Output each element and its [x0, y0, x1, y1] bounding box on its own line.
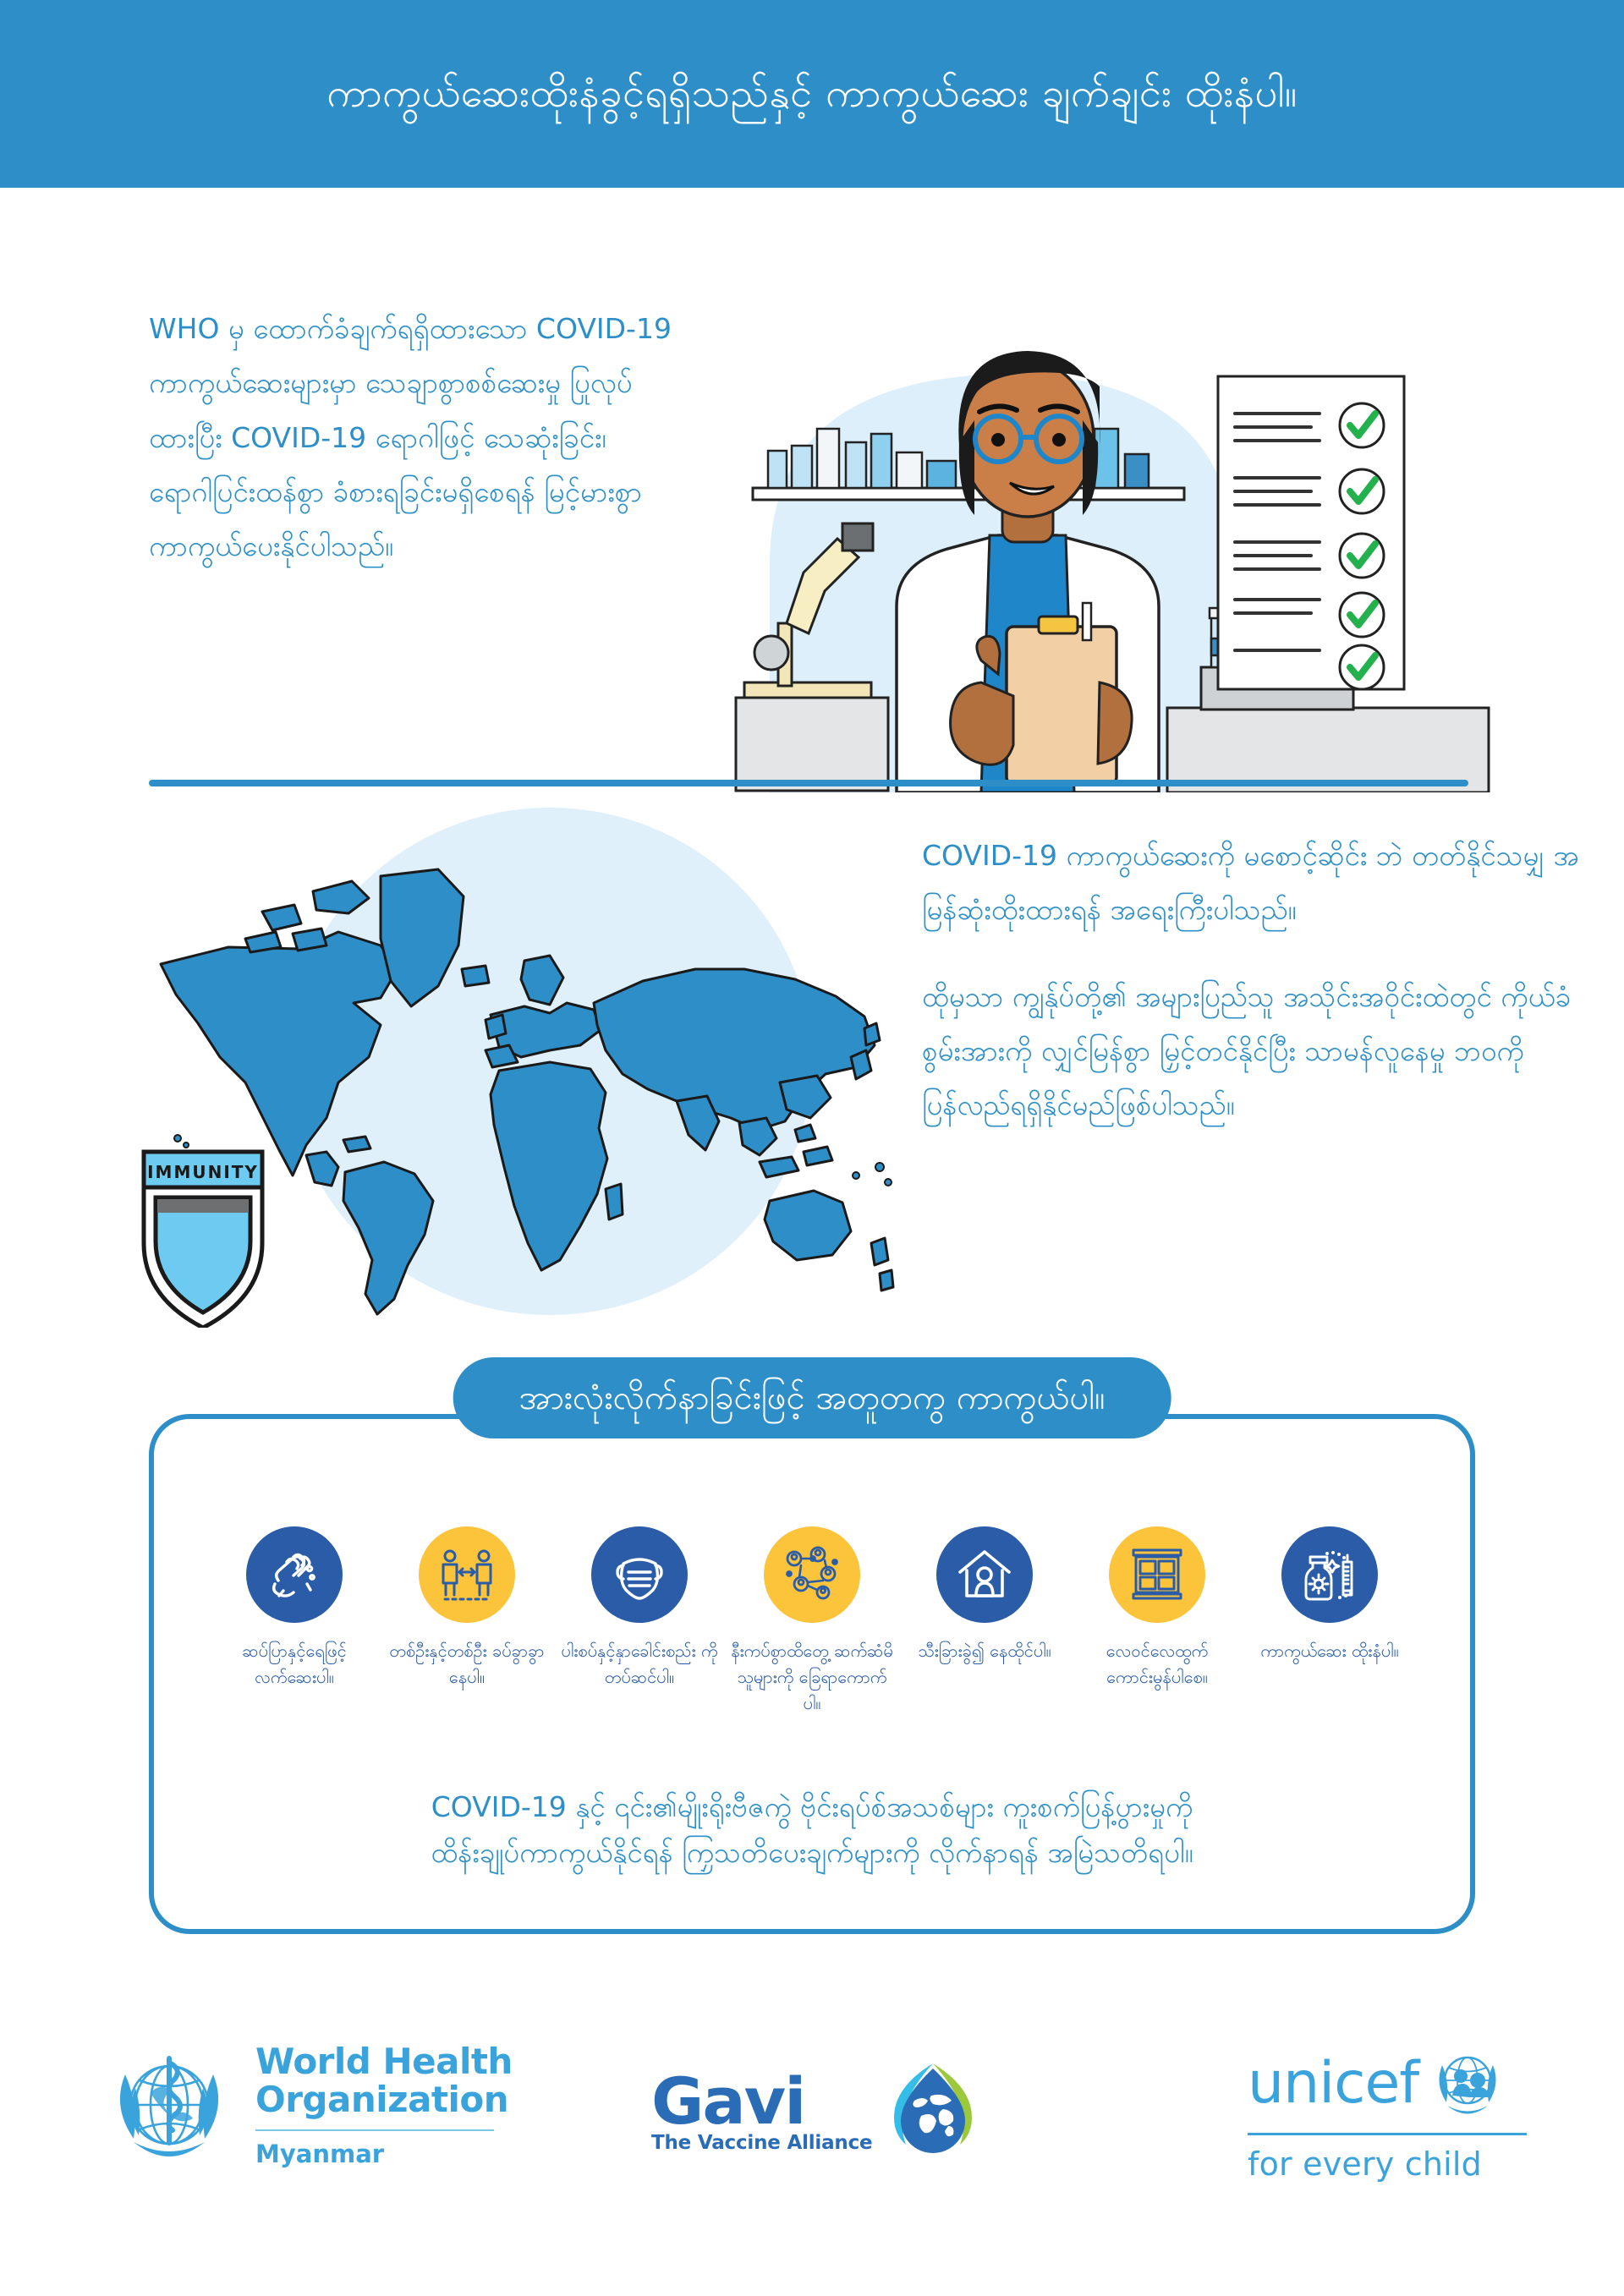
- face-mask-icon: [591, 1526, 688, 1623]
- gavi-wordmark: Gavi: [651, 2071, 872, 2132]
- header-banner: ကာကွယ်ဆေးထိုးနံခွင့်ရရှိသည်နှင့် ကာကွယ်ဆ…: [0, 0, 1624, 188]
- prevention-icon-row: ဆပ်ပြာနှင့်ရေဖြင့် လက်ဆေးပါ။ တစ်ဦးနှင့်တ…: [0, 1526, 1624, 1717]
- gavi-logo: Gavi The Vaccine Alliance: [651, 2057, 989, 2168]
- vaccine-syringe-icon: [1281, 1526, 1378, 1623]
- section2-paragraph-1: COVID-19 ကာကွယ်ဆေးကို မစောင့်ဆိုင်း ဘဲ တ…: [922, 829, 1599, 938]
- prevention-item-contact-tracing[interactable]: နီးကပ်စွာထိတွေ့ ဆက်ဆံမိသူများကို ခြေရာကေ…: [726, 1526, 898, 1717]
- prevention-banner: အားလုံးလိုက်နာခြင်းဖြင့် အတူတကွ ကာကွယ်ပါ…: [453, 1357, 1171, 1438]
- prevention-footer-text: COVID-19 နှင့် ၎င်း၏မျိုးရိုးဗီဇကွဲ ဗိုင…: [149, 1784, 1475, 1877]
- prevention-label: ဆပ်ပြာနှင့်ရေဖြင့် လက်ဆေးပါ။: [208, 1638, 381, 1690]
- immunity-shield-icon: IMMUNITY: [144, 1152, 262, 1328]
- prevention-label: ကာကွယ်ဆေး ထိုးနံပါ။: [1257, 1638, 1402, 1664]
- section-get-vaccinated-early: IMMUNITY COVID-19 ကာကွယ်ဆေးကို မစောင့်ဆိ…: [0, 803, 1624, 1345]
- who-line-2: Organization: [255, 2080, 513, 2118]
- logo-row: World Health Organization Myanmar Gavi T…: [0, 2021, 1624, 2266]
- handwashing-icon: [246, 1526, 343, 1623]
- stay-home-icon: [936, 1526, 1033, 1623]
- section1-paragraph: WHO မှ ထောက်ခံချက်ရရှိထားသော COVID-19 ကာ…: [149, 302, 673, 574]
- prevention-item-stay-home[interactable]: သီးခြားခွဲ၍ နေထိုင်ပါ။: [898, 1526, 1071, 1717]
- prevention-label: သီးခြားခွဲ၍ နေထိုင်ပါ။: [914, 1638, 1054, 1664]
- prevention-item-handwashing[interactable]: ဆပ်ပြာနှင့်ရေဖြင့် လက်ဆေးပါ။: [208, 1526, 381, 1717]
- unicef-divider: [1248, 2133, 1527, 2135]
- prevention-label: တစ်ဦးနှင့်တစ်ဦး ခပ်ခွာခွာနေပါ။: [381, 1638, 553, 1690]
- prevention-item-mask[interactable]: ပါးစပ်နှင့်နှာခေါင်းစည်း ကို တပ်ဆင်ပါ။: [553, 1526, 726, 1717]
- section-divider: [149, 780, 1468, 786]
- prevention-item-ventilation[interactable]: လေဝင်လေထွက် ကောင်းမွန်ပါစေ။: [1071, 1526, 1243, 1717]
- shield-label: IMMUNITY: [147, 1162, 259, 1182]
- lab-scientist-illustration: [643, 285, 1573, 792]
- footer-line-1: COVID-19 နှင့် ၎င်း၏မျိုးရိုးဗီဇကွဲ ဗိုင…: [149, 1784, 1475, 1830]
- footer-line-2: ထိန်းချုပ်ကာကွယ်နိုင်ရန် ကြှသတိပေးချက်မျ…: [149, 1830, 1475, 1876]
- infographic-page: ကာကွယ်ဆေးထိုးနံခွင့်ရရှိသည်နှင့် ကာကွယ်ဆ…: [0, 0, 1624, 2296]
- unicef-logo: unicef: [1248, 2047, 1527, 2183]
- who-logo: World Health Organization Myanmar: [101, 2042, 513, 2178]
- prevention-item-vaccination[interactable]: ကာကွယ်ဆေး ထိုးနံပါ။: [1243, 1526, 1416, 1717]
- who-line-1: World Health: [255, 2042, 513, 2080]
- unicef-wordmark: unicef: [1248, 2055, 1418, 2112]
- prevention-label: နီးကပ်စွာထိတွေ့ ဆက်ဆံမိသူများကို ခြေရာကေ…: [726, 1638, 898, 1717]
- unicef-emblem-icon: [1430, 2047, 1505, 2121]
- ventilation-window-icon: [1109, 1526, 1205, 1623]
- section2-paragraph-2: ထိုမှသာ ကျွန်ုပ်တို့၏ အများပြည်သူ အသိုင်…: [922, 970, 1599, 1133]
- prevention-banner-title: အားလုံးလိုက်နာခြင်းဖြင့် အတူတကွ ကာကွယ်ပါ…: [519, 1376, 1106, 1420]
- prevention-item-distancing[interactable]: တစ်ဦးနှင့်တစ်ဦး ခပ်ခွာခွာနေပါ။: [381, 1526, 553, 1717]
- header-title: ကာကွယ်ဆေးထိုးနံခွင့်ရရှိသည်နှင့် ကာကွယ်ဆ…: [276, 69, 1347, 119]
- unicef-tagline: for every child: [1248, 2145, 1527, 2183]
- prevention-label: လေဝင်လေထွက် ကောင်းမွန်ပါစေ။: [1071, 1638, 1243, 1690]
- world-map-illustration: IMMUNITY: [127, 803, 922, 1328]
- gavi-droplet-globe-icon: [877, 2057, 989, 2168]
- prevention-label: ပါးစပ်နှင့်နှာခေါင်းစည်း ကို တပ်ဆင်ပါ။: [553, 1638, 726, 1690]
- who-country: Myanmar: [255, 2140, 513, 2168]
- contact-tracing-icon: [764, 1526, 860, 1623]
- section2-text-block: COVID-19 ကာကွယ်ဆေးကို မစောင့်ဆိုင်း ဘဲ တ…: [922, 829, 1599, 1165]
- section-vaccine-safety: WHO မှ ထောက်ခံချက်ရရှိထားသော COVID-19 ကာ…: [0, 188, 1624, 788]
- who-divider: [255, 2129, 494, 2131]
- gavi-tagline: The Vaccine Alliance: [651, 2132, 872, 2154]
- who-emblem-icon: [101, 2042, 237, 2178]
- social-distancing-icon: [419, 1526, 515, 1623]
